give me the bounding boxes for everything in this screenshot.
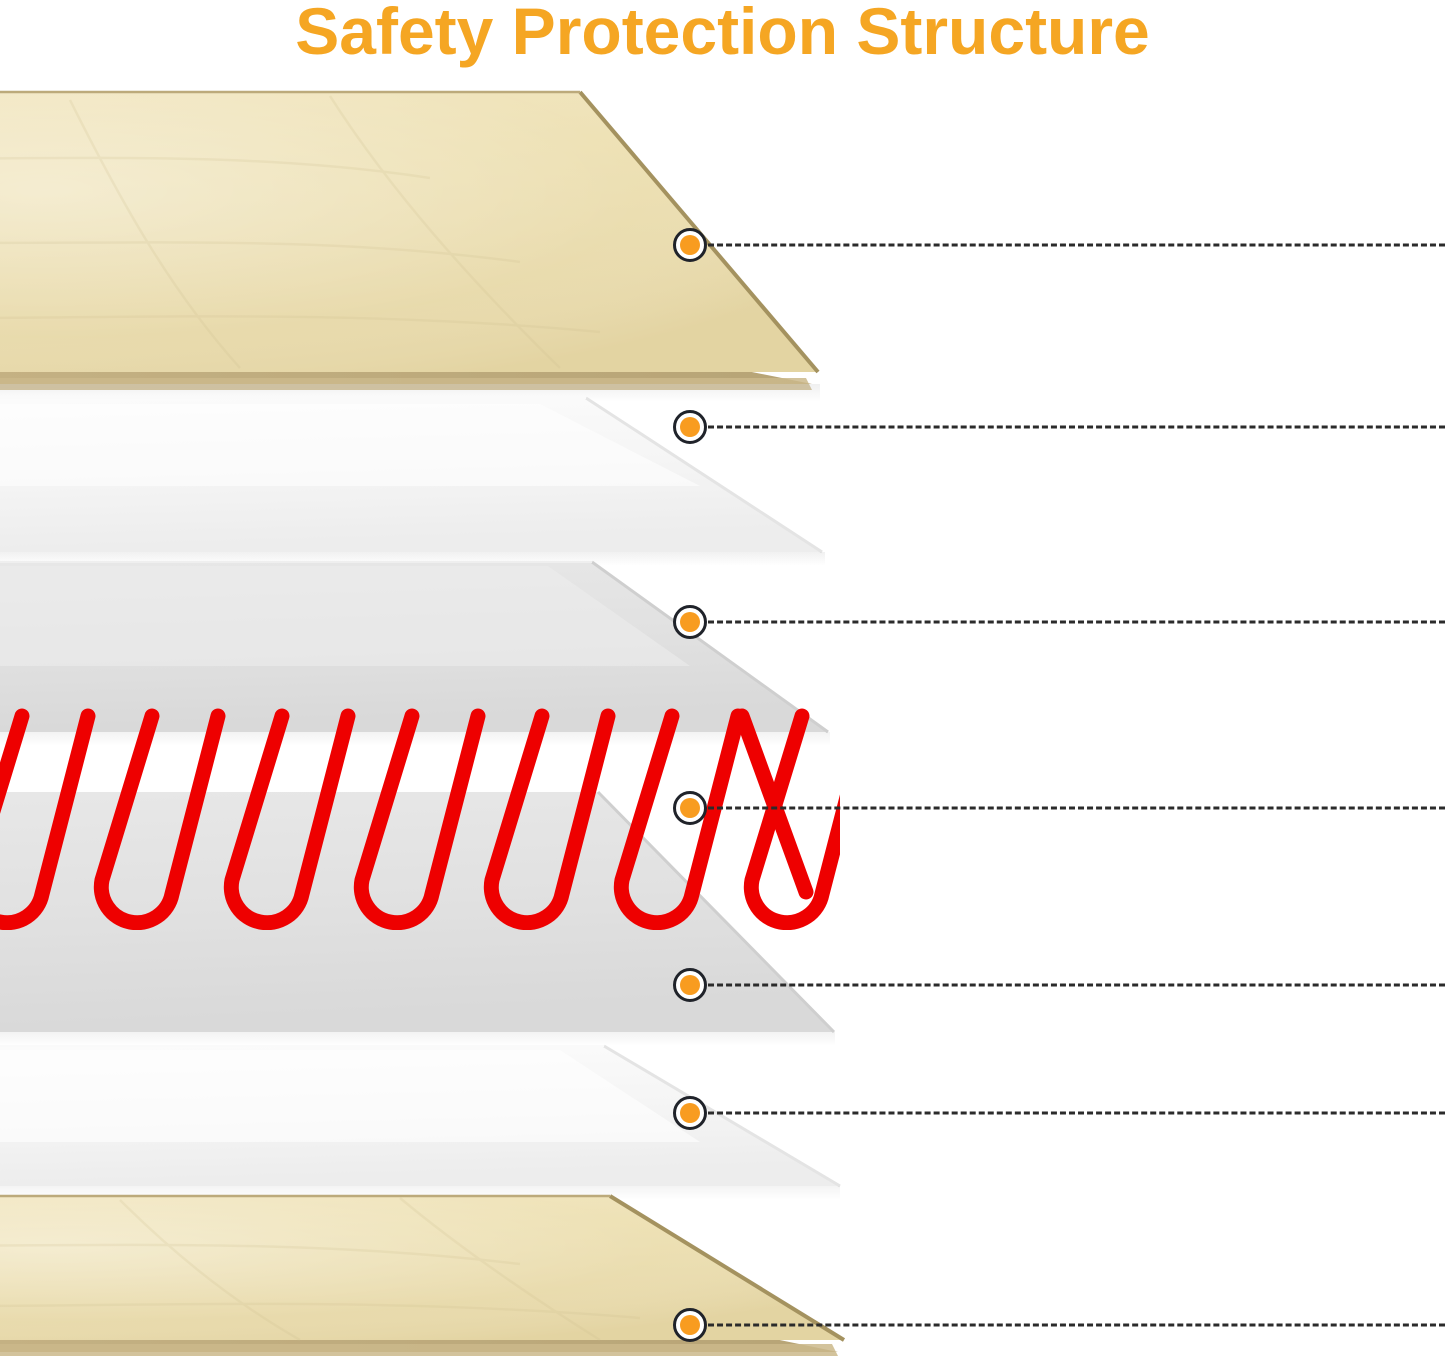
layer-knit-top xyxy=(0,562,828,732)
dashed-leader-line-icon xyxy=(708,807,1445,810)
layer-velvet-bottom xyxy=(0,1196,844,1356)
callout-dot-icon[interactable] xyxy=(673,791,707,825)
callout-dot-icon[interactable] xyxy=(673,1096,707,1130)
callout-dot-icon[interactable] xyxy=(673,968,707,1002)
callout-dot-icon[interactable] xyxy=(673,1308,707,1342)
callout-dot-icon[interactable] xyxy=(673,228,707,262)
dashed-leader-line-icon xyxy=(708,1112,1445,1115)
page-title: Safety Protection Structure xyxy=(0,0,1445,70)
callout-dot-icon[interactable] xyxy=(673,410,707,444)
dashed-leader-line-icon xyxy=(708,244,1445,247)
layer-pvc-film-bottom xyxy=(0,1046,840,1186)
dashed-leader-line-icon xyxy=(708,984,1445,987)
infographic-canvas: Safety Protection Structure Ultra Soft C… xyxy=(0,0,1445,1358)
callout-dot-icon[interactable] xyxy=(673,605,707,639)
dashed-leader-line-icon xyxy=(708,426,1445,429)
dashed-leader-line-icon xyxy=(708,621,1445,624)
dashed-leader-line-icon xyxy=(708,1324,1445,1327)
layer-stack-illustration xyxy=(0,0,1445,1358)
